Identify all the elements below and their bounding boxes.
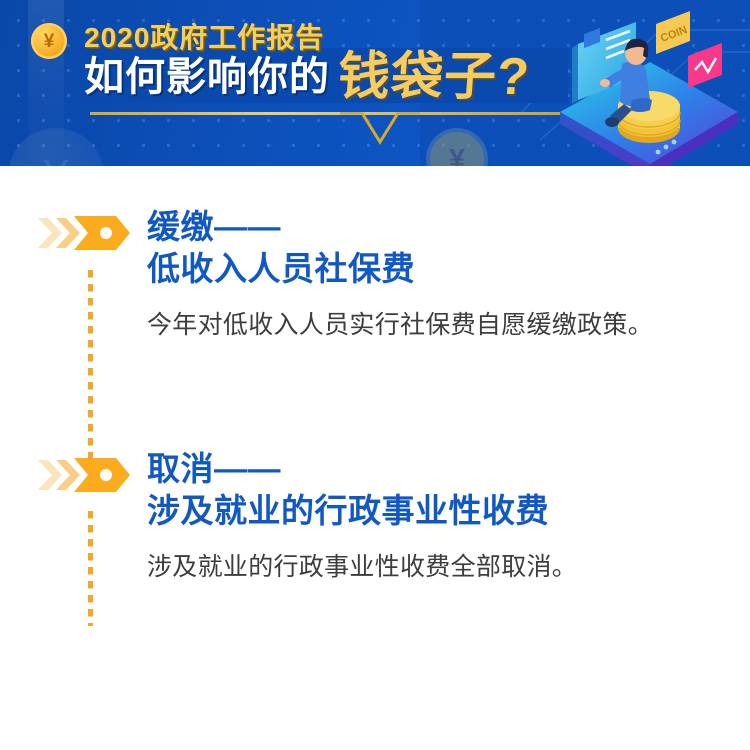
header-banner: ¥ ¥ 2020政府工作报告 如何影响你的 钱袋子? xyxy=(0,0,750,166)
item-description: 涉及就业的行政事业性收费全部取消。 xyxy=(147,549,657,586)
gold-divider-rule xyxy=(90,112,560,115)
list-item-body: 取消—— 涉及就业的行政事业性收费 涉及就业的行政事业性收费全部取消。 xyxy=(147,448,707,586)
item-heading-line-1: 取消—— xyxy=(147,448,707,490)
chevron-arrow-marker-icon xyxy=(38,454,138,496)
chevron-arrow-marker-icon xyxy=(38,212,138,254)
faded-yen-symbol: ¥ xyxy=(449,145,465,166)
yen-coin-icon: ¥ xyxy=(31,23,67,59)
gold-notch-icon xyxy=(340,112,420,146)
dotted-connector-2 xyxy=(88,511,93,626)
finance-illustration: COIN xyxy=(548,4,744,166)
ghost-yen-circle-decoration xyxy=(8,128,104,166)
title-main-text: 如何影响你的 xyxy=(84,57,330,97)
list-item-body: 缓缴—— 低收入人员社保费 今年对低收入人员实行社保费自愿缓缴政策。 xyxy=(147,206,707,344)
dotted-connector-1 xyxy=(88,270,93,470)
item-heading-line-2: 涉及就业的行政事业性收费 xyxy=(147,490,707,532)
header-title: 如何影响你的 钱袋子? xyxy=(84,47,530,99)
item-description: 今年对低收入人员实行社保费自愿缓缴政策。 xyxy=(147,307,657,344)
yen-symbol: ¥ xyxy=(44,32,55,51)
item-heading-line-2: 低收入人员社保费 xyxy=(147,248,707,290)
title-accent-text: 钱袋子? xyxy=(336,51,531,103)
content-area: 缓缴—— 低收入人员社保费 今年对低收入人员实行社保费自愿缓缴政策。 取消—— … xyxy=(0,166,750,750)
item-heading-line-1: 缓缴—— xyxy=(147,206,707,248)
